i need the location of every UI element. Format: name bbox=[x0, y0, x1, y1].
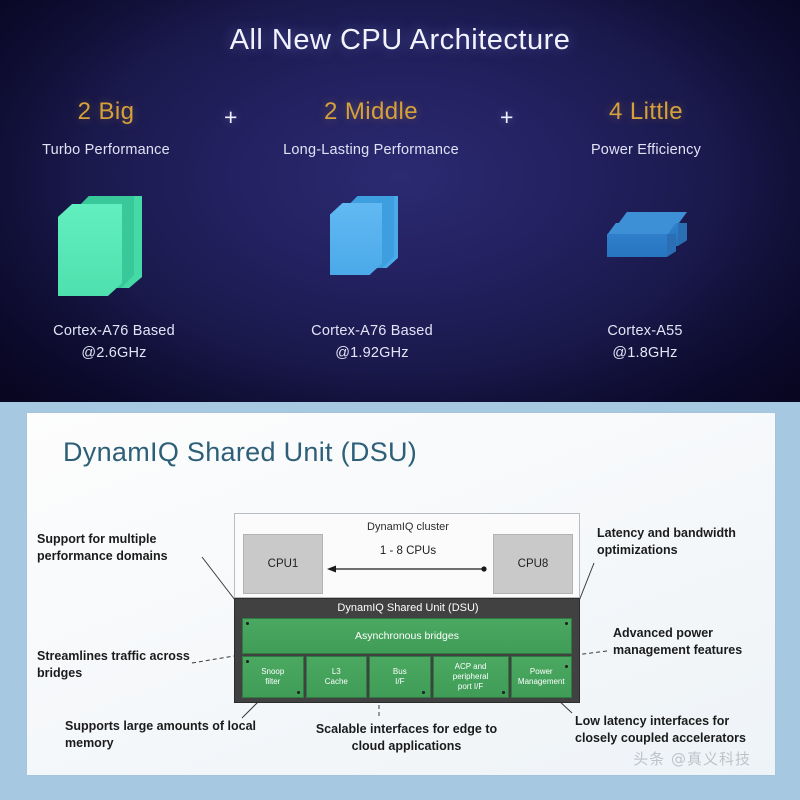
connector-dot bbox=[502, 691, 505, 694]
dsu-block-power-management-line2: Management bbox=[518, 677, 565, 687]
core-block-art-little-icon bbox=[596, 196, 694, 258]
connector-dot bbox=[422, 691, 425, 694]
core-group-big: 2 Big Turbo Performance bbox=[0, 98, 216, 158]
async-bridges-label: Asynchronous bridges bbox=[355, 630, 459, 642]
dsu-block-power-management-line1: Power bbox=[530, 667, 553, 677]
page-title: All New CPU Architecture bbox=[0, 24, 800, 57]
core-caption-big: Cortex-A76 Based @2.6GHz bbox=[0, 320, 234, 365]
dsu-block-power-management: Power Management bbox=[511, 656, 573, 698]
dsu-container-header: DynamIQ Shared Unit (DSU) bbox=[235, 602, 581, 614]
dsu-block-l3-cache-line2: Cache bbox=[325, 677, 348, 687]
connector-dot bbox=[297, 691, 300, 694]
cpu-range-label: 1 - 8 CPUs bbox=[331, 545, 485, 557]
core-group-little: 4 Little Power Efficiency bbox=[536, 98, 756, 158]
dsu-block-acp-peripheral: ACP and peripheral port I/F bbox=[433, 656, 509, 698]
callout-low-latency-interfaces: Low latency interfaces for closely coupl… bbox=[575, 713, 775, 747]
cpu-architecture-panel: All New CPU Architecture 2 Big Turbo Per… bbox=[0, 0, 800, 402]
dsu-block-l3-cache: L3 Cache bbox=[306, 656, 368, 698]
callout-latency-bandwidth: Latency and bandwidth optimizations bbox=[597, 525, 777, 559]
plus-separator-2: + bbox=[500, 104, 513, 131]
core-caption-little-line1: Cortex-A55 bbox=[525, 320, 765, 342]
dsu-block-snoop-filter: Snoop filter bbox=[242, 656, 304, 698]
dsu-block-acp-peripheral-line2: peripheral bbox=[453, 672, 489, 682]
dsu-block-acp-peripheral-line1: ACP and bbox=[455, 662, 487, 672]
core-block-art-middle-icon bbox=[330, 196, 416, 274]
core-count-little: 4 Little bbox=[536, 98, 756, 126]
core-caption-big-line1: Cortex-A76 Based bbox=[0, 320, 234, 342]
dsu-block-bus-if-line1: Bus bbox=[393, 667, 407, 677]
callout-multiple-performance-domains: Support for multiple performance domains bbox=[37, 531, 222, 565]
core-count-big: 2 Big bbox=[0, 98, 216, 126]
core-caption-big-line2: @2.6GHz bbox=[0, 342, 234, 364]
dynamiq-cluster-label: DynamIQ cluster bbox=[235, 521, 581, 533]
core-subtitle-little: Power Efficiency bbox=[536, 142, 756, 158]
core-group-middle: 2 Middle Long-Lasting Performance bbox=[261, 98, 481, 158]
callout-scalable-interfaces: Scalable interfaces for edge to cloud ap… bbox=[299, 721, 514, 755]
dsu-container-box: DynamIQ Shared Unit (DSU) Asynchronous b… bbox=[234, 598, 580, 703]
dsu-block-snoop-filter-line2: filter bbox=[265, 677, 280, 687]
core-caption-middle-line2: @1.92GHz bbox=[252, 342, 492, 364]
watermark: 头条 @真义科技 bbox=[633, 748, 751, 769]
dsu-block-l3-cache-line1: L3 bbox=[332, 667, 341, 677]
connector-dot bbox=[565, 665, 568, 668]
connector-dot bbox=[246, 622, 249, 625]
async-bridges-block: Asynchronous bridges bbox=[242, 618, 572, 654]
connector-dot bbox=[565, 622, 568, 625]
core-block-art-big-icon bbox=[58, 196, 168, 296]
dsu-block-snoop-filter-line1: Snoop bbox=[261, 667, 284, 677]
core-caption-middle: Cortex-A76 Based @1.92GHz bbox=[252, 320, 492, 365]
core-subtitle-big: Turbo Performance bbox=[0, 142, 216, 158]
cpu-box-first: CPU1 bbox=[243, 534, 323, 594]
cpu-box-last: CPU8 bbox=[493, 534, 573, 594]
cpu-range-arrow-icon bbox=[327, 564, 489, 574]
core-subtitle-middle: Long-Lasting Performance bbox=[261, 142, 481, 158]
plus-separator-1: + bbox=[224, 104, 237, 131]
dsu-function-blocks: Snoop filter L3 Cache Bus I/F bbox=[242, 656, 572, 698]
callout-streamlines-traffic: Streamlines traffic across bridges bbox=[37, 648, 222, 682]
dynamiq-cluster-box: DynamIQ cluster CPU1 CPU8 1 - 8 CPUs bbox=[234, 513, 580, 598]
dsu-block-bus-if: Bus I/F bbox=[369, 656, 431, 698]
core-caption-little: Cortex-A55 @1.8GHz bbox=[525, 320, 765, 365]
core-caption-little-line2: @1.8GHz bbox=[525, 342, 765, 364]
connector-dot bbox=[246, 660, 249, 663]
dsu-diagram: DynamIQ cluster CPU1 CPU8 1 - 8 CPUs Dyn… bbox=[27, 413, 775, 775]
callout-advanced-power-management: Advanced power management features bbox=[613, 625, 793, 659]
core-count-middle: 2 Middle bbox=[261, 98, 481, 126]
dsu-panel: DynamIQ Shared Unit (DSU) bbox=[0, 402, 800, 800]
dsu-block-bus-if-line2: I/F bbox=[395, 677, 404, 687]
dsu-block-acp-peripheral-line3: port I/F bbox=[458, 682, 483, 692]
slide-screenshot: All New CPU Architecture 2 Big Turbo Per… bbox=[0, 0, 800, 800]
dsu-slide-card: DynamIQ Shared Unit (DSU) bbox=[27, 413, 775, 775]
core-caption-middle-line1: Cortex-A76 Based bbox=[252, 320, 492, 342]
callout-local-memory: Supports large amounts of local memory bbox=[65, 718, 265, 752]
